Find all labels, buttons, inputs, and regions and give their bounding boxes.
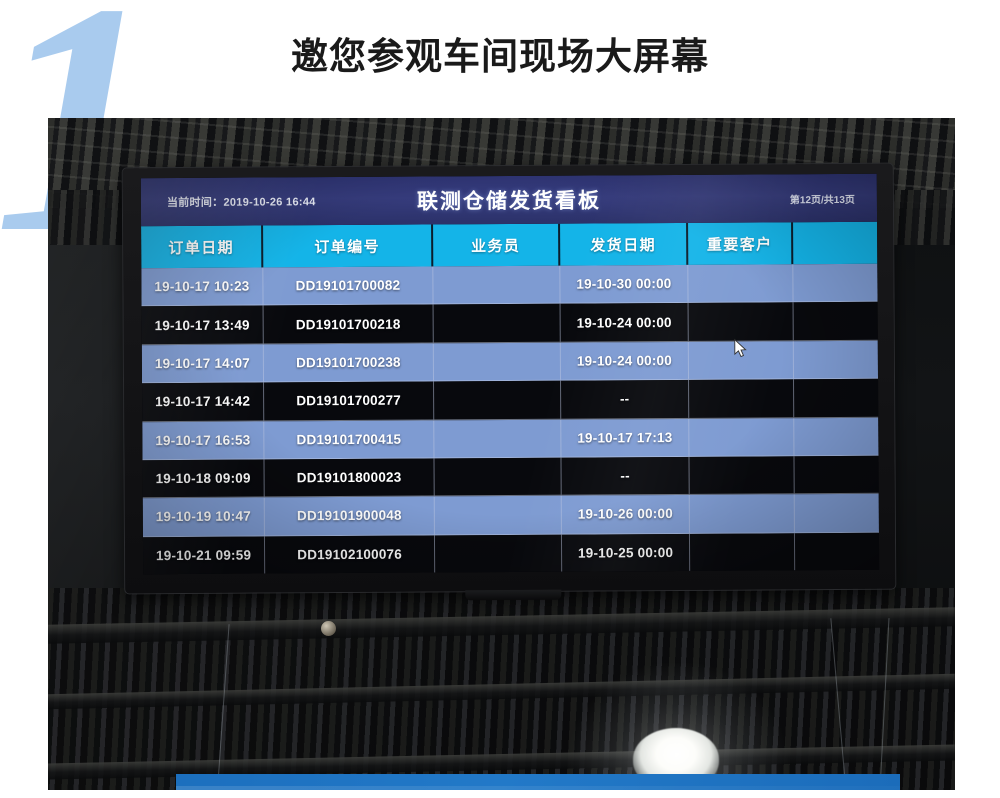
cell-salesperson	[433, 266, 560, 304]
page-indicator: 第12页/共13页	[790, 190, 855, 205]
shipping-dashboard: 当前时间：2019-10-26 16:44 联测仓储发货看板 第12页/共13页…	[141, 174, 879, 574]
cell-order_date: 19-10-19 10:47	[143, 498, 265, 536]
cell-order_no: DD19101900048	[265, 497, 435, 535]
cell-order_date: 19-10-18 09:09	[142, 459, 264, 497]
cell-ship_date: 19-10-30 00:00	[560, 265, 688, 303]
tv-screen: 当前时间：2019-10-26 16:44 联测仓储发货看板 第12页/共13页…	[141, 174, 879, 574]
cell-order_no: DD19101700277	[264, 382, 434, 420]
cell-order_date: 19-10-17 14:07	[142, 344, 264, 382]
cell-ship_date: 19-10-17 17:13	[561, 418, 689, 456]
column-header-order-no: 订单编号	[263, 224, 433, 267]
cell-order_no: DD19101700415	[264, 420, 434, 458]
cell-salesperson	[435, 496, 562, 534]
cell-key_customer	[689, 418, 794, 456]
cell-salesperson	[434, 342, 561, 380]
cell-extra	[795, 494, 879, 532]
orders-table-header-row: 订单日期 订单编号 业务员 发货日期 重要客户	[141, 222, 877, 268]
cell-key_customer	[690, 495, 795, 533]
factory-photo: 当前时间：2019-10-26 16:44 联测仓储发货看板 第12页/共13页…	[48, 118, 955, 790]
cell-extra	[794, 302, 878, 340]
cell-extra	[794, 456, 878, 494]
table-row[interactable]: 19-10-17 14:07DD1910170023819-10-24 00:0…	[142, 340, 878, 383]
orders-table: 订单日期 订单编号 业务员 发货日期 重要客户 19-10-17 10:23DD…	[141, 222, 879, 574]
cell-ship_date: --	[561, 457, 689, 495]
ceiling-fixture-knob	[321, 621, 336, 636]
cell-order_no: DD19101800023	[264, 458, 434, 496]
cell-salesperson	[434, 304, 561, 342]
cell-order_date: 19-10-21 09:59	[143, 536, 265, 574]
column-header-salesperson: 业务员	[433, 224, 560, 267]
column-header-order-date: 订单日期	[141, 225, 263, 268]
orders-table-body: 19-10-17 10:23DD1910170008219-10-30 00:0…	[141, 264, 879, 574]
cell-extra	[793, 264, 877, 302]
cell-order_no: DD19101700082	[263, 266, 433, 304]
cell-extra	[794, 417, 878, 455]
column-header-key-customer: 重要客户	[688, 222, 793, 265]
current-time-label: 当前时间：2019-10-26 16:44	[167, 193, 316, 210]
cell-ship_date: 19-10-24 00:00	[561, 342, 689, 380]
tv-stand	[465, 590, 561, 601]
table-row[interactable]: 19-10-19 10:47DD1910190004819-10-26 00:0…	[143, 494, 879, 537]
cell-key_customer	[688, 264, 793, 302]
column-header-ship-date: 发货日期	[560, 223, 688, 266]
dashboard-header: 当前时间：2019-10-26 16:44 联测仓储发货看板 第12页/共13页	[141, 174, 877, 226]
cell-key_customer	[689, 303, 794, 341]
page-title: 邀您参观车间现场大屏幕	[0, 26, 1000, 80]
cell-ship_date: 19-10-26 00:00	[562, 495, 690, 533]
cell-salesperson	[435, 534, 562, 572]
cell-ship_date: 19-10-25 00:00	[562, 534, 690, 572]
cell-order_date: 19-10-17 16:53	[142, 421, 264, 459]
cell-key_customer	[689, 379, 794, 417]
cell-order_date: 19-10-17 13:49	[142, 306, 264, 344]
cell-key_customer	[690, 533, 795, 571]
cell-order_date: 19-10-17 14:42	[142, 383, 264, 421]
wall-mounted-tv: 当前时间：2019-10-26 16:44 联测仓储发货看板 第12页/共13页…	[123, 164, 896, 594]
cell-salesperson	[434, 419, 561, 457]
cell-extra	[794, 340, 878, 378]
promo-page: 1 邀您参观车间现场大屏幕 当前时间：2019-10-26 16:44 联测仓储…	[0, 0, 1000, 798]
cell-extra	[795, 532, 879, 570]
cell-ship_date: --	[561, 380, 689, 418]
cell-extra	[794, 379, 878, 417]
table-row[interactable]: 19-10-21 09:59DD1910210007619-10-25 00:0…	[143, 532, 879, 574]
column-header-extra	[793, 222, 877, 265]
caption-banner: 您的产品已入生产系统，正在为您加快安排出货	[176, 774, 900, 790]
cell-order_no: DD19101700218	[264, 305, 434, 343]
cell-salesperson	[434, 458, 561, 496]
table-row[interactable]: 19-10-17 10:23DD1910170008219-10-30 00:0…	[141, 264, 877, 307]
cell-order_no: DD19102100076	[265, 535, 435, 573]
cell-order_date: 19-10-17 10:23	[141, 267, 263, 305]
table-row[interactable]: 19-10-17 14:42DD19101700277--	[142, 379, 878, 422]
table-row[interactable]: 19-10-18 09:09DD19101800023--	[142, 456, 878, 499]
table-row[interactable]: 19-10-17 16:53DD1910170041519-10-17 17:1…	[142, 417, 878, 460]
cell-ship_date: 19-10-24 00:00	[561, 303, 689, 341]
table-row[interactable]: 19-10-17 13:49DD1910170021819-10-24 00:0…	[142, 302, 878, 345]
cell-salesperson	[434, 381, 561, 419]
cell-order_no: DD19101700238	[264, 343, 434, 381]
cell-key_customer	[689, 456, 794, 494]
